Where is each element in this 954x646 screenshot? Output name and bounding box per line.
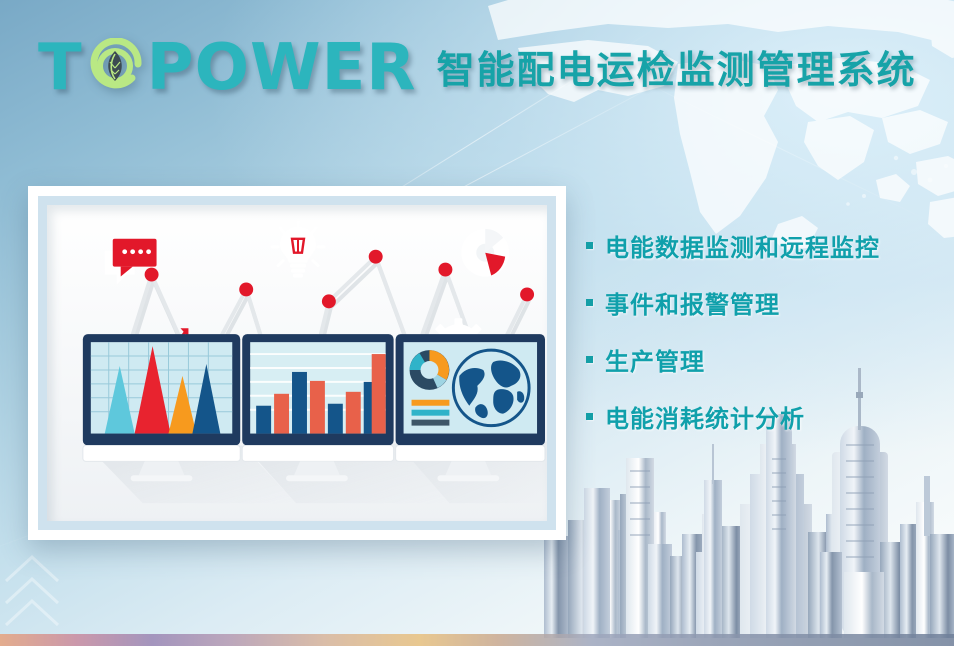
bullet-square-icon [586,413,593,420]
feature-list: 电能数据监测和远程监控 事件和报警管理 生产管理 电能消耗统计分析 [586,228,936,456]
chevron-watermark-icon [2,545,92,640]
feature-label: 电能数据监测和远程监控 [605,228,880,263]
monitor-globe-donut [396,334,545,481]
monitor-bar-chart [242,334,393,481]
bullet-square-icon [586,356,593,363]
promo-banner: T POWER 智能配电运检监测管理系统 电能数据监测和远程监控 事件和报警管理 [0,0,954,646]
brand-header: T POWER 智能配电运检监测管理系统 [38,36,917,100]
page-title: 智能配电运检监测管理系统 [437,39,917,98]
illustration-canvas [47,205,547,521]
bullet-square-icon [586,242,593,249]
list-item: 电能消耗统计分析 [586,399,936,434]
logo-text-pre: T [38,36,83,100]
logo[interactable]: T POWER [38,36,417,100]
feature-label: 电能消耗统计分析 [605,399,805,434]
bullet-square-icon [586,299,593,306]
list-item: 生产管理 [586,342,936,377]
feature-label: 事件和报警管理 [605,285,780,320]
list-item: 电能数据监测和远程监控 [586,228,936,263]
leaf-in-circle-icon [86,38,146,98]
list-item: 事件和报警管理 [586,285,936,320]
monitor-area-chart [83,334,240,481]
bottom-photo-strip [0,634,954,646]
illustration-card [28,186,566,540]
feature-label: 生产管理 [605,342,705,377]
pie-chart-icon [461,229,509,277]
illustration-frame [38,196,556,530]
logo-text-post: POWER [147,36,417,100]
